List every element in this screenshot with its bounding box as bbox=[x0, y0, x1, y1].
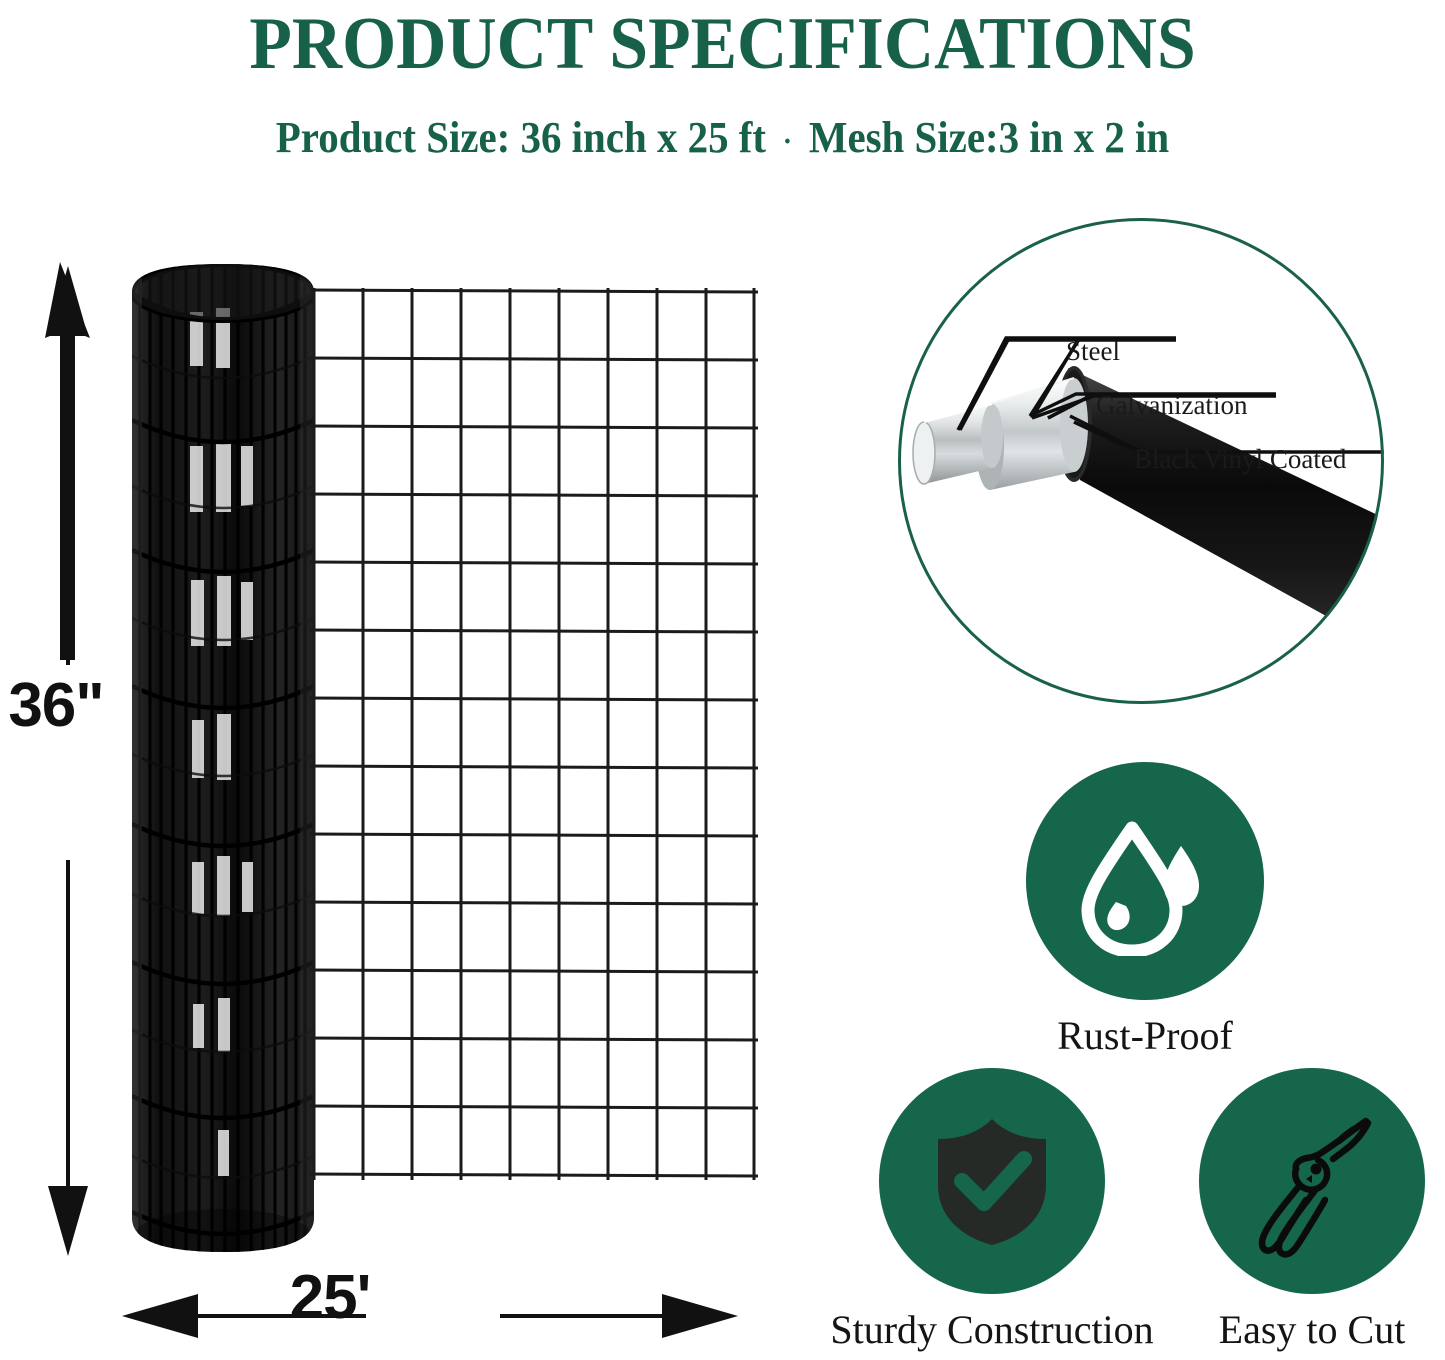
wire-construction-diagram: Steel Galvanization Black Vinyl Coated bbox=[898, 218, 1384, 704]
pliers-icon bbox=[1199, 1068, 1425, 1294]
height-dimension-arrow bbox=[18, 260, 128, 1260]
height-dimension-label: 36" bbox=[0, 670, 116, 741]
subtitle-separator: · bbox=[766, 125, 809, 159]
product-illustration-panel: 36" bbox=[0, 200, 840, 1360]
diagram-circle-outline bbox=[898, 218, 1384, 704]
feature-circle bbox=[879, 1068, 1105, 1294]
width-dimension-arrow bbox=[120, 1278, 740, 1358]
feature-sturdy-construction: Sturdy Construction bbox=[818, 1068, 1166, 1353]
water-droplet-icon bbox=[1026, 762, 1264, 1000]
shield-check-icon bbox=[879, 1068, 1105, 1294]
specs-subtitle: Product Size: 36 inch x 25 ft·Mesh Size:… bbox=[51, 112, 1395, 163]
feature-label: Easy to Cut bbox=[1186, 1306, 1438, 1353]
mesh-size-text: Mesh Size:3 in x 2 in bbox=[809, 113, 1169, 162]
page-title: PRODUCT SPECIFICATIONS bbox=[43, 2, 1401, 87]
product-specifications-infographic: PRODUCT SPECIFICATIONS Product Size: 36 … bbox=[0, 0, 1445, 1360]
width-dimension-label: 25' bbox=[250, 1262, 410, 1333]
product-size-text: Product Size: 36 inch x 25 ft bbox=[276, 113, 766, 162]
feature-circle bbox=[1026, 762, 1264, 1000]
feature-rust-proof: Rust-Proof bbox=[985, 762, 1305, 1059]
fence-roll-image bbox=[128, 250, 318, 1265]
feature-label: Sturdy Construction bbox=[818, 1306, 1166, 1353]
fence-mesh-panel bbox=[310, 288, 758, 1180]
feature-circle bbox=[1199, 1068, 1425, 1294]
feature-easy-to-cut: Easy to Cut bbox=[1186, 1068, 1438, 1353]
feature-label: Rust-Proof bbox=[985, 1012, 1305, 1059]
